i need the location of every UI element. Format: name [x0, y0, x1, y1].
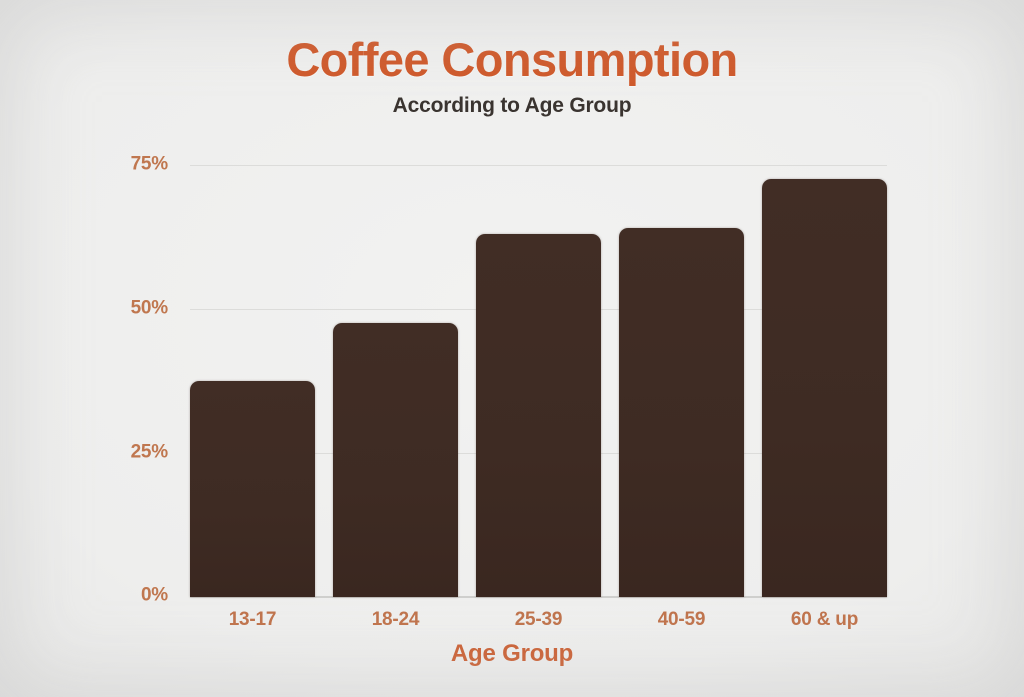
x-axis-tick-label-2: 25-39 [515, 609, 563, 631]
y-axis-tick-label-25: 25% [131, 442, 168, 464]
chart-subtitle: According to Age Group [0, 94, 1024, 118]
x-axis-tick-label-0: 13-17 [229, 609, 277, 631]
title-block: Coffee Consumption According to Age Grou… [0, 36, 1024, 118]
y-axis-tick-label-50: 50% [131, 298, 168, 320]
page-title: Coffee Consumption [0, 36, 1024, 84]
bar-series: 13-17 18-24 25-39 40-59 60 & up [190, 165, 887, 597]
x-axis-title: Age Group [0, 640, 1024, 668]
plot-area: 75% 50% 25% 0% 13-17 18-24 25-39 [190, 165, 887, 597]
bar-13-17[interactable] [190, 381, 315, 597]
x-axis-tick-label-1: 18-24 [372, 609, 420, 631]
y-axis-tick-label-75: 75% [131, 154, 168, 176]
bar-40-59[interactable] [619, 228, 744, 597]
bar-18-24[interactable] [333, 323, 458, 597]
bar-slot-18-24: 18-24 [333, 165, 458, 597]
x-axis-tick-label-3: 40-59 [658, 609, 706, 631]
x-axis-tick-label-4: 60 & up [791, 609, 858, 631]
bar-25-39[interactable] [476, 234, 601, 597]
bar-slot-40-59: 40-59 [619, 165, 744, 597]
y-axis-tick-label-0: 0% [141, 585, 168, 607]
bar-slot-60-and-up: 60 & up [762, 165, 887, 597]
bar-60-and-up[interactable] [762, 179, 887, 597]
bar-slot-25-39: 25-39 [476, 165, 601, 597]
chart-canvas: Coffee Consumption According to Age Grou… [0, 0, 1024, 697]
bar-slot-13-17: 13-17 [190, 165, 315, 597]
